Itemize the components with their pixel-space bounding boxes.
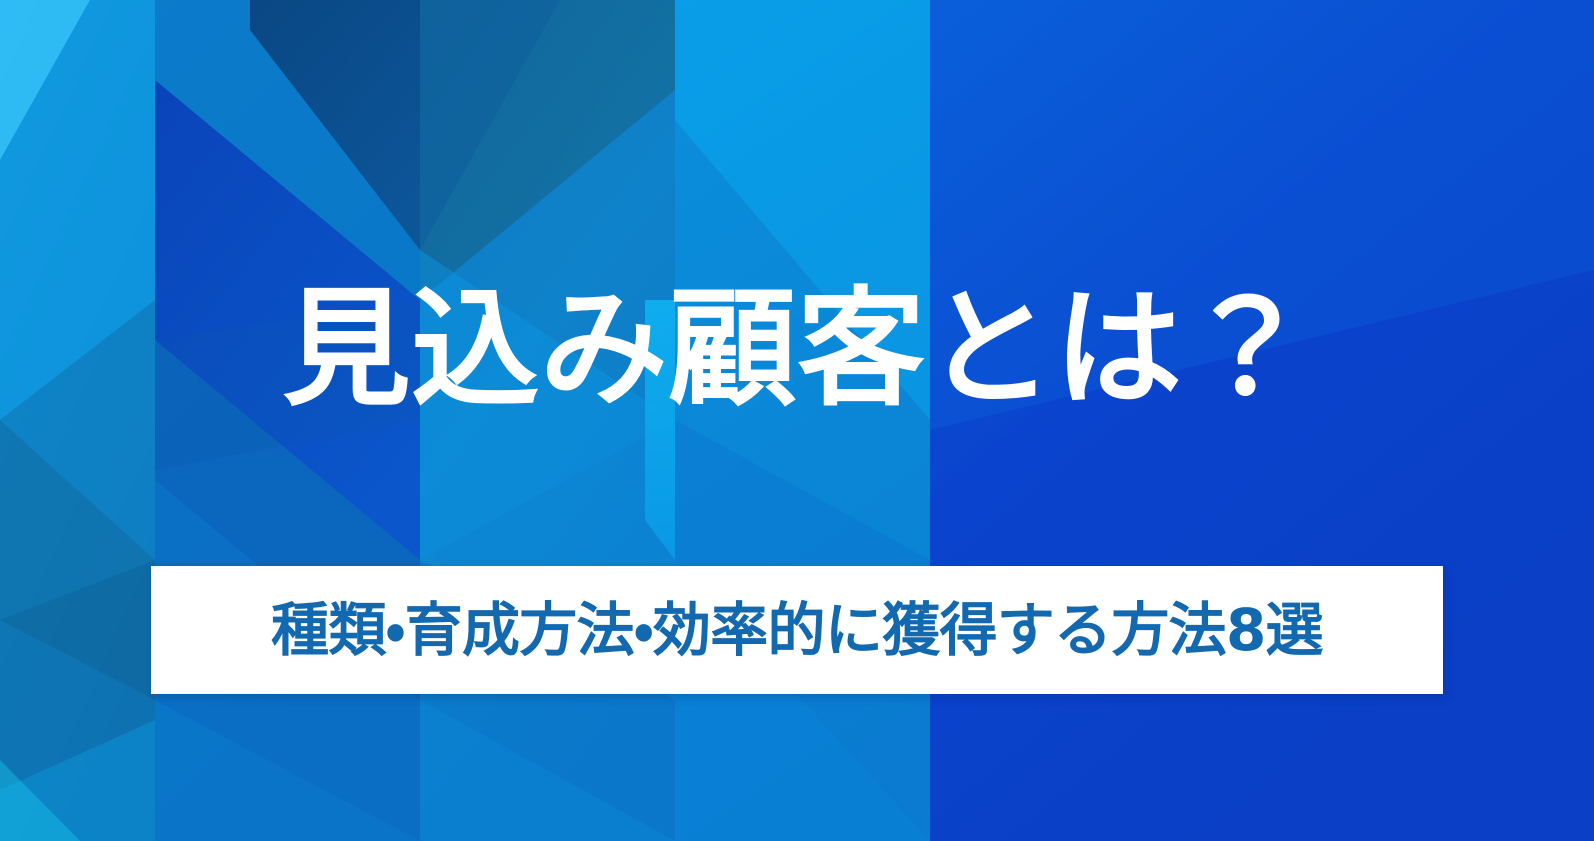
banner-subtitle-box: 種類・育成方法・効率的に獲得する方法8選 <box>151 566 1443 694</box>
banner-subtitle: 種類・育成方法・効率的に獲得する方法8選 <box>271 601 1323 659</box>
background-geometric-pattern <box>0 0 1594 841</box>
article-hero-banner: 見込み顧客とは？ 種類・育成方法・効率的に獲得する方法8選 <box>0 0 1594 841</box>
